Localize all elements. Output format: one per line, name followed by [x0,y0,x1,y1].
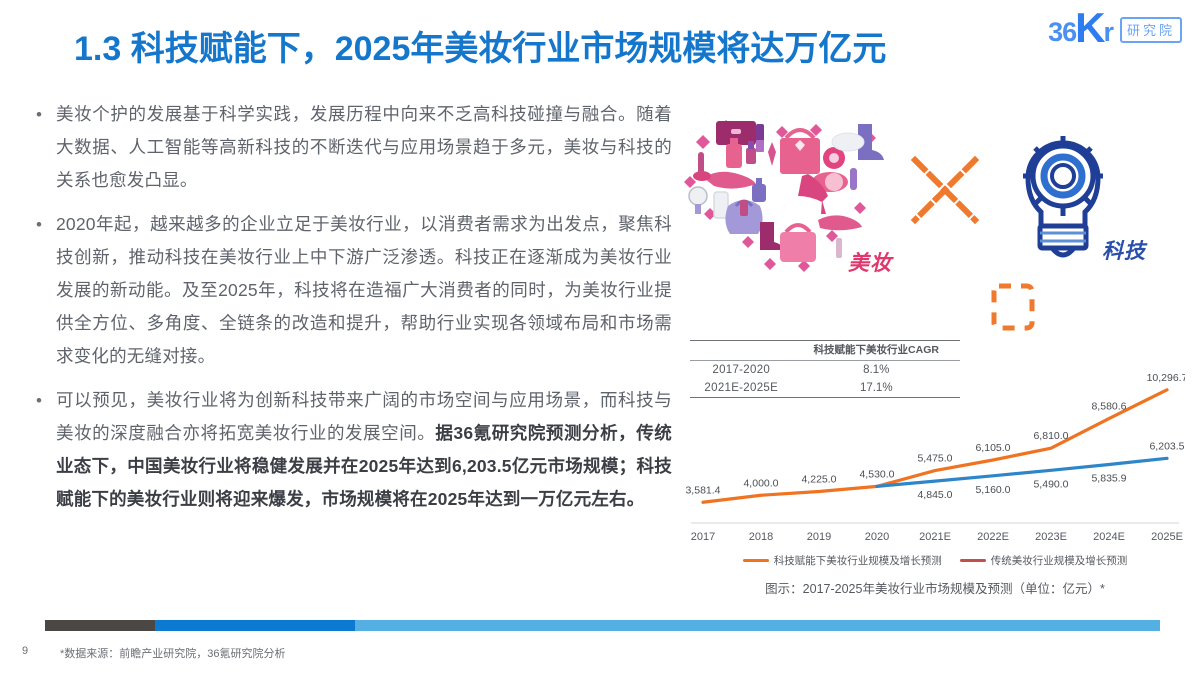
x-tick-label: 2017 [691,531,715,543]
data-label: 5,160.0 [975,484,1010,496]
bullet-text: 2020年起，越来越多的企业立足于美妆行业，以消费者需求为出发点，聚焦科技创新，… [56,208,672,373]
tech-label: 科技 [1102,235,1146,265]
brand-logo: 36 K r 研究院 [1048,10,1182,46]
footer-source-note: *数据来源：前瞻产业研究院，36氪研究院分析 [60,645,286,661]
decorative-x-icon [905,150,985,230]
cagr-header-metric: 科技赋能下美妆行业CAGR [792,341,960,361]
bullet-item: • 可以预见，美妆行业将为创新科技带来广阔的市场空间与应用场景，而科技与美妆的深… [22,384,672,516]
tech-bulb-illustration: 科技 [988,108,1148,283]
logo-k-text: K [1075,10,1105,46]
legend-item-tech: 科技赋能下美妆行业规模及增长预测 [743,553,942,568]
logo-36-text: 36 [1048,19,1076,46]
data-label: 8,580.6 [1091,401,1126,413]
decorative-dashed-square-icon [990,282,1036,332]
data-label: 10,296.7 [1147,372,1185,384]
x-tick-label: 2025E [1151,531,1183,543]
logo-badge-text: 研究院 [1120,17,1182,43]
bullet-marker: • [22,384,56,516]
data-label: 5,490.0 [1033,478,1068,490]
page-title: 1.3 科技赋能下，2025年美妆行业市场规模将达万亿元 [74,21,886,70]
data-label: 3,581.4 [685,484,720,496]
data-label: 4,000.0 [743,477,778,489]
footer-color-bar [45,620,1160,631]
body-content: • 美妆个护的发展基于科学实践，发展历程中向来不乏高科技碰撞与融合。随着大数据、… [22,98,672,527]
x-tick-label: 2018 [749,531,773,543]
x-axis-tick-labels: 20172018201920202021E2022E2023E2024E2025… [691,531,1183,543]
bullet-item: • 美妆个护的发展基于科学实践，发展历程中向来不乏高科技碰撞与融合。随着大数据、… [22,98,672,197]
data-label: 6,105.0 [975,442,1010,454]
x-tick-label: 2024E [1093,531,1125,543]
data-label: 4,225.0 [801,473,836,485]
footer-bar-segment-1 [45,620,155,631]
beauty-heart-illustration: 美妆 [668,96,898,291]
beauty-label: 美妆 [848,247,892,277]
data-label: 5,835.9 [1091,472,1126,484]
market-size-line-chart: 3,581.44,000.04,225.04,530.05,475.06,105… [685,360,1185,610]
chart-caption: 图示：2017-2025年美妆行业市场规模及预测（单位：亿元）* [685,578,1185,597]
data-label: 6,203.5 [1149,440,1184,452]
x-tick-label: 2023E [1035,531,1067,543]
legend-swatch-tech [743,559,769,562]
x-tick-label: 2020 [865,531,889,543]
logo-r-text: r [1103,19,1114,46]
page-number: 9 [22,645,28,657]
slide: 36 K r 研究院 1.3 科技赋能下，2025年美妆行业市场规模将达万亿元 … [0,0,1200,675]
bullet-item: • 2020年起，越来越多的企业立足于美妆行业，以消费者需求为出发点，聚焦科技创… [22,208,672,373]
data-label: 4,845.0 [917,489,952,501]
bullet-marker: • [22,208,56,373]
x-tick-label: 2019 [807,531,831,543]
cagr-header-blank [690,341,792,361]
footer-bar-segment-3 [355,620,1160,631]
x-tick-label: 2021E [919,531,951,543]
legend-label-tech: 科技赋能下美妆行业规模及增长预测 [774,553,942,568]
legend-item-traditional: 传统美妆行业规模及增长预测 [960,553,1128,568]
data-label: 4,530.0 [859,468,894,480]
data-label: 5,475.0 [917,453,952,465]
bullet-text: 可以预见，美妆行业将为创新科技带来广阔的市场空间与应用场景，而科技与美妆的深度融… [56,384,672,516]
bullet-text: 美妆个护的发展基于科学实践，发展历程中向来不乏高科技碰撞与融合。随着大数据、人工… [56,98,672,197]
x-tick-label: 2022E [977,531,1009,543]
legend-label-traditional: 传统美妆行业规模及增长预测 [991,553,1128,568]
bullet-marker: • [22,98,56,197]
footer-bar-segment-2 [155,620,355,631]
chart-canvas: 3,581.44,000.04,225.04,530.05,475.06,105… [685,360,1185,555]
chart-legend: 科技赋能下美妆行业规模及增长预测 传统美妆行业规模及增长预测 [685,553,1185,568]
legend-swatch-traditional [960,559,986,562]
data-label: 6,810.0 [1033,430,1068,442]
